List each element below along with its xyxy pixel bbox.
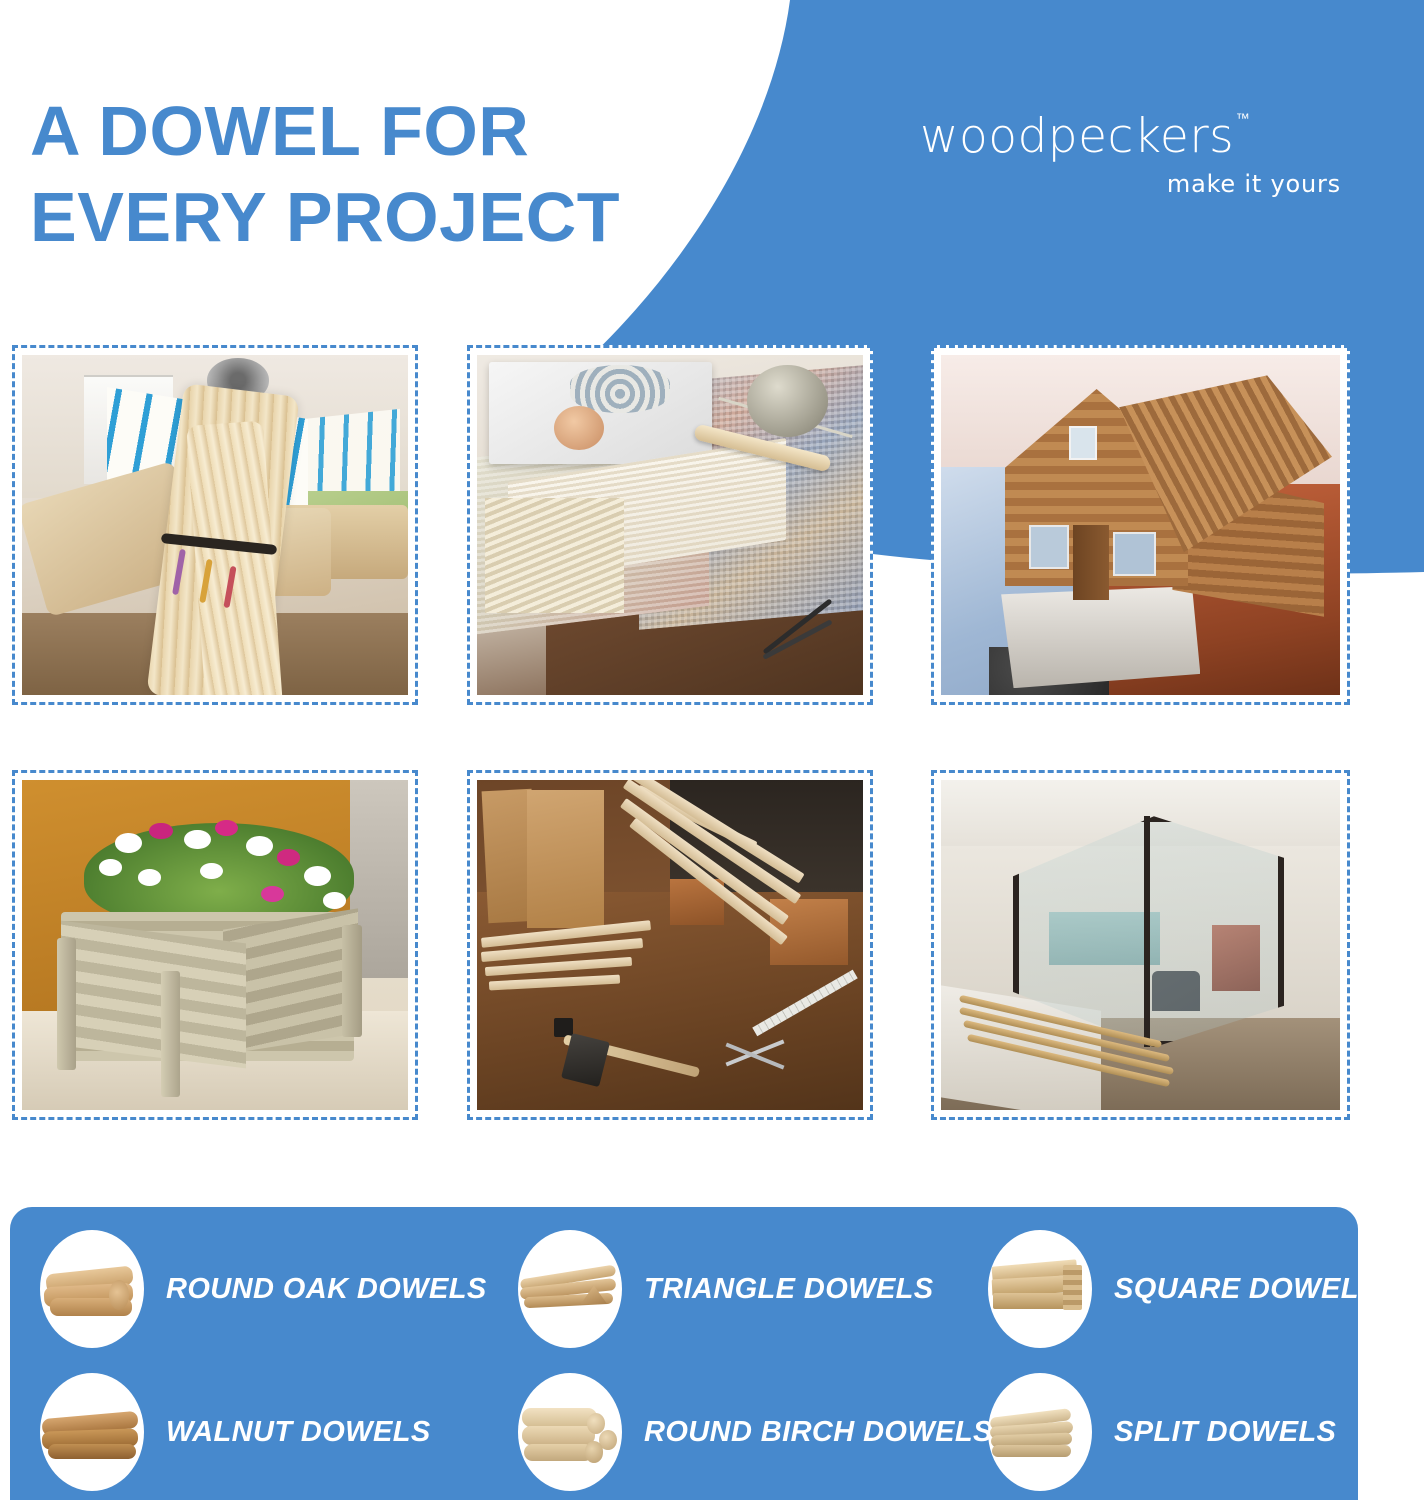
product-column-1: ROUND OAK DOWELS WALNUT DOWELS [10, 1207, 488, 1500]
product-label-round-oak-dowels: ROUND OAK DOWELS [166, 1273, 487, 1306]
page-title: A DOWEL FOR EVERY PROJECT [30, 88, 790, 260]
photo-tile-loom-dowels [12, 345, 418, 705]
photo-planter-box [22, 780, 408, 1110]
logo-wordmark-text: woodpeckers [920, 109, 1234, 164]
headline-line-1: A DOWEL FOR [30, 88, 790, 174]
project-photo-grid [12, 345, 1412, 1120]
product-item-triangle-dowels[interactable]: TRIANGLE DOWELS [488, 1229, 934, 1349]
photo-loom-dowels [22, 355, 408, 695]
product-column-3: SQUARE DOWELS SPLIT DOWELS [958, 1207, 1358, 1500]
headline-line-2: EVERY PROJECT [30, 174, 790, 260]
product-label-round-birch-dowels: ROUND BIRCH DOWELS [644, 1416, 993, 1449]
product-item-round-oak-dowels[interactable]: ROUND OAK DOWELS [10, 1229, 487, 1349]
product-item-square-dowels[interactable]: SQUARE DOWELS [958, 1229, 1358, 1349]
product-label-square-dowels: SQUARE DOWELS [1114, 1273, 1358, 1306]
photo-tile-weaving-yarn [467, 345, 873, 705]
logo-tagline: make it yours [920, 170, 1345, 198]
product-item-round-birch-dowels[interactable]: ROUND BIRCH DOWELS [488, 1372, 993, 1492]
split-dowels-thumb-icon [988, 1373, 1092, 1491]
photo-tile-workbench-wood [467, 770, 873, 1120]
photo-tile-planter-box [12, 770, 418, 1120]
photo-workbench-wood [477, 780, 863, 1110]
round-oak-dowels-thumb-icon [40, 1230, 144, 1348]
round-birch-dowels-thumb-icon [518, 1373, 622, 1491]
square-dowels-thumb-icon [988, 1230, 1092, 1348]
photo-weaving-yarn [477, 355, 863, 695]
product-label-split-dowels: SPLIT DOWELS [1114, 1416, 1336, 1449]
photo-tile-glass-cube [931, 770, 1350, 1120]
walnut-dowels-thumb-icon [40, 1373, 144, 1491]
logo-wordmark: woodpeckers ™ [920, 110, 1234, 164]
brand-logo: woodpeckers ™ make it yours [920, 110, 1360, 198]
product-item-walnut-dowels[interactable]: WALNUT DOWELS [10, 1372, 431, 1492]
photo-glass-cube [941, 780, 1340, 1110]
triangle-dowels-thumb-icon [518, 1230, 622, 1348]
photo-tile-log-cabin [931, 345, 1350, 705]
product-item-split-dowels[interactable]: SPLIT DOWELS [958, 1372, 1336, 1492]
product-column-2: TRIANGLE DOWELS ROUND BIRCH DOWELS [488, 1207, 958, 1500]
product-types-banner: ROUND OAK DOWELS WALNUT DOWELS TRIANGLE … [10, 1207, 1358, 1500]
marketing-graphic: A DOWEL FOR EVERY PROJECT woodpeckers ™ … [0, 0, 1424, 1500]
photo-log-cabin [941, 355, 1340, 695]
trademark-icon: ™ [1236, 112, 1251, 126]
product-label-triangle-dowels: TRIANGLE DOWELS [644, 1273, 934, 1306]
product-label-walnut-dowels: WALNUT DOWELS [166, 1416, 431, 1449]
